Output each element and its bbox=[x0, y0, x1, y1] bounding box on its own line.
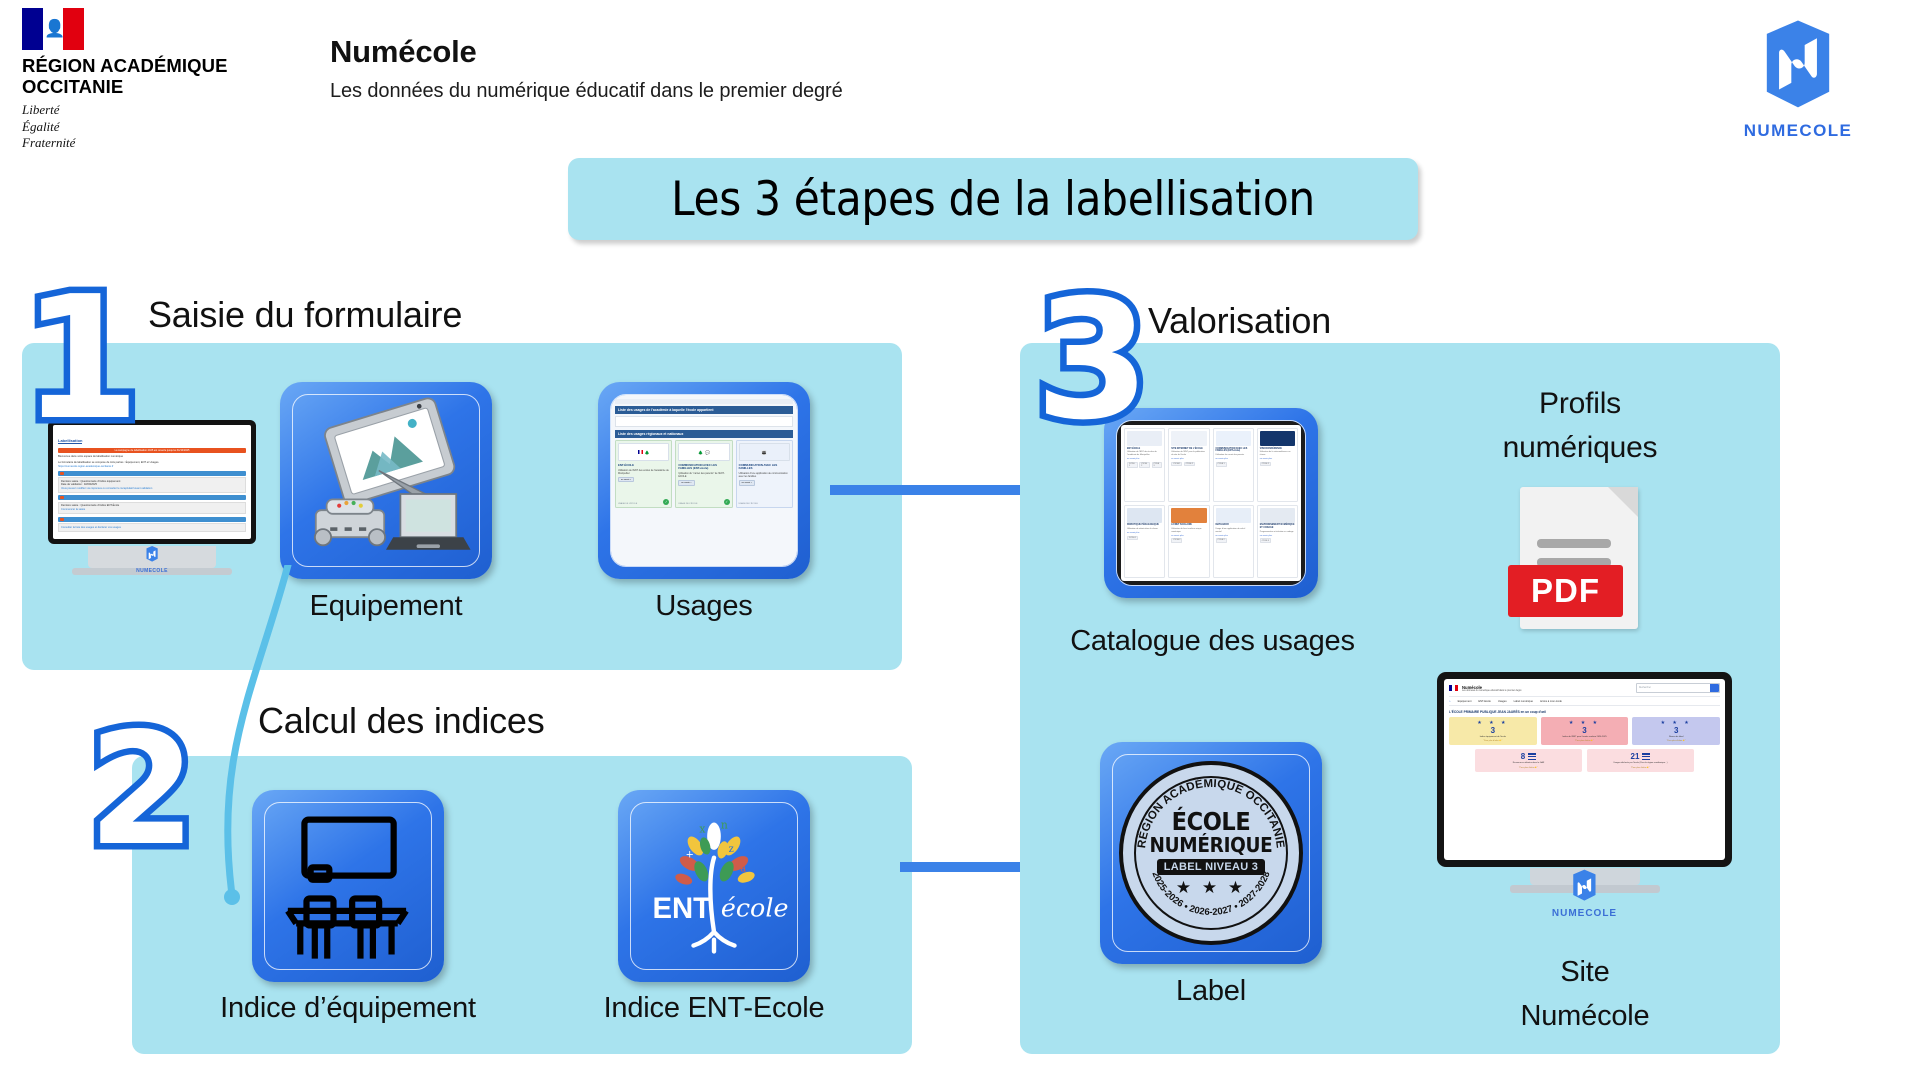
stat-more-link[interactable]: "Pour plus d'infos 👉" bbox=[1543, 740, 1627, 742]
brand-block: Numécole Les données du numérique éducat… bbox=[330, 34, 843, 103]
usage-card-check-icon: ✓ bbox=[663, 499, 669, 505]
form-s1-line3: Vous pouvez modifier vos réponses ou con… bbox=[61, 487, 243, 491]
stat-value-row: 21 bbox=[1589, 752, 1692, 761]
step-3-number: 3 bbox=[1035, 278, 1150, 443]
indice-equipement-label: Indice d’équipement bbox=[172, 992, 524, 1025]
usages-card-label: Usages bbox=[598, 590, 810, 623]
catalogue-card-desc: Utilisation de robots dans la classe bbox=[1127, 528, 1162, 531]
form-section-block-3: Consulter la liste des usages et déclare… bbox=[58, 523, 246, 532]
site-search-input[interactable]: Rechercher bbox=[1636, 683, 1720, 693]
svg-text:+: + bbox=[686, 850, 694, 861]
site-section-heading: L'ÉCOLE PRIMAIRE PUBLIQUE JEAN JAURÈS en… bbox=[1449, 710, 1720, 714]
catalogue-card-desc: Utilisation de la visioconférence en cla… bbox=[1260, 451, 1295, 456]
marianne-icon: 👤 bbox=[44, 17, 64, 41]
usage-card-button[interactable]: en savoir + bbox=[739, 480, 755, 485]
stat-label: Niveau de label bbox=[1634, 736, 1718, 739]
catalogue-card-link[interactable]: en savoir plus bbox=[1127, 458, 1162, 460]
catalogue-card-image bbox=[1171, 431, 1206, 446]
cycle-tag: CYCLE 2 bbox=[1184, 462, 1195, 467]
pdf-badge: PDF bbox=[1508, 565, 1623, 617]
numecole-logo-word: NUMECOLE bbox=[1728, 121, 1868, 141]
catalogue-card-link[interactable]: en savoir plus bbox=[1216, 458, 1251, 460]
svg-text:x: x bbox=[699, 822, 705, 835]
catalogue-card-link[interactable]: en savoir plus bbox=[1171, 535, 1206, 537]
cycle-tag: CYCLE 1 bbox=[1216, 462, 1227, 467]
catalogue-card-tags: CYCLE 1 CYCLE 2 CYCLE 3 bbox=[1127, 462, 1162, 469]
cycle-tag: CYCLE 2 bbox=[1139, 462, 1150, 469]
site-numecole-logo: NUMECOLE bbox=[1552, 868, 1617, 919]
usage-card-foot: USAGE DE L'ÉCOLE bbox=[678, 503, 697, 505]
home-icon[interactable]: ⌂ bbox=[1449, 700, 1451, 703]
header: 👤 RÉGION ACADÉMIQUE OCCITANIE Liberté Ég… bbox=[0, 0, 1920, 150]
pdf-page-shape: PDF bbox=[1520, 487, 1638, 629]
catalogue-card-title: VISIOCONFÉRENCE bbox=[1260, 448, 1295, 451]
brand-title: Numécole bbox=[330, 34, 843, 70]
usage-card-desc: Utilisation d'une application de communi… bbox=[739, 472, 790, 478]
stat-label: Indice équipement de l'école bbox=[1451, 736, 1535, 739]
slide-title-banner: Les 3 étapes de la labellisation bbox=[568, 158, 1418, 240]
svg-text:2025-2026 • 2026-2027 • 2027-2: 2025-2026 • 2026-2027 • 2027-2028 bbox=[1149, 870, 1272, 918]
label-card[interactable]: RÉGION ACADÉMIQUE OCCITANIE 2025-2026 • … bbox=[1100, 742, 1322, 964]
stat-more-link[interactable]: "Pour plus d'infos 👉" bbox=[1451, 740, 1535, 742]
catalogue-card-tags: CYCLE 2 bbox=[1171, 538, 1206, 543]
label-card-label: Label bbox=[1100, 975, 1322, 1008]
tablet-robot-laptop-icon bbox=[293, 395, 479, 566]
laptop-icon bbox=[386, 494, 471, 550]
region-academique-line1: RÉGION ACADÉMIQUE bbox=[22, 56, 272, 77]
indice-equipement-card-inner bbox=[264, 802, 432, 970]
stat-card-indice-equipement[interactable]: ★ ★ ★ 3 Indice équipement de l'école "Po… bbox=[1449, 717, 1537, 746]
usages-card-inner: Liste des usages de l'académie à laquell… bbox=[610, 394, 798, 567]
catalogue-card[interactable]: ENVIRONNEMENT NUMÉRIQUE ET CODAGE Progra… bbox=[1257, 505, 1298, 579]
site-numecole-screen[interactable]: Numécole Les données du numérique éducat… bbox=[1437, 672, 1732, 867]
pdf-fold-corner bbox=[1608, 487, 1638, 517]
numecole-n-icon-small bbox=[1564, 868, 1604, 903]
catalogue-card-title: ROBOTIQUE PÉDAGOGIQUE bbox=[1127, 524, 1162, 527]
catalogue-card-image bbox=[1216, 508, 1251, 523]
usages-screenshot: Liste des usages de l'académie à laquell… bbox=[611, 395, 797, 566]
step-2-number: 2 bbox=[88, 712, 196, 867]
pdf-text-line bbox=[1537, 539, 1611, 548]
catalogue-card-image bbox=[1260, 508, 1295, 523]
catalogue-card-image bbox=[1127, 508, 1162, 523]
usage-card[interactable]: 🌲 ENT-ÉCOLE Utilisation de l'ENT des éco… bbox=[615, 440, 672, 508]
cycle-tag: CYCLE 1 bbox=[1127, 536, 1138, 541]
catalogue-card-tags: CYCLE 2 bbox=[1216, 538, 1251, 543]
stat-more-link[interactable]: "Pour plus d'infos 👉" bbox=[1634, 740, 1718, 742]
stat-value: 8 bbox=[1521, 752, 1525, 761]
catalogue-card[interactable]: SITE INTERNET DE L'ÉCOLE Utilisation de … bbox=[1168, 428, 1209, 502]
indice-ent-ecole-card-inner: x n z a + ENT école bbox=[630, 802, 798, 970]
form-section-bar-2[interactable] bbox=[58, 495, 246, 500]
usage-card-button[interactable]: en savoir + bbox=[618, 477, 634, 482]
cycle-tag: CYCLE 2 bbox=[1260, 462, 1271, 467]
brand-subtitle: Les données du numérique éducatif dans l… bbox=[330, 80, 843, 103]
catalogue-card[interactable]: ROBOTIQUE PÉDAGOGIQUE Utilisation de rob… bbox=[1124, 505, 1165, 579]
site-stat-cards: ★ ★ ★ 3 Indice équipement de l'école "Po… bbox=[1449, 717, 1720, 746]
site-numecole-label: Site Numécole bbox=[1470, 950, 1700, 1038]
pdf-file-icon[interactable]: PDF bbox=[1520, 487, 1638, 629]
usages-card-row: 🌲 ENT-ÉCOLE Utilisation de l'ENT des éco… bbox=[615, 440, 793, 508]
step-1-number: 1 bbox=[22, 274, 140, 444]
profils-numeriques-label: Profils numériques bbox=[1460, 382, 1700, 470]
svg-text:n: n bbox=[721, 818, 728, 831]
slide-root: 👤 RÉGION ACADÉMIQUE OCCITANIE Liberté Ég… bbox=[0, 0, 1920, 1080]
usages-card[interactable]: Liste des usages de l'académie à laquell… bbox=[598, 382, 810, 579]
stat-card-usages-declares[interactable]: 21 Usages déclarés par l'école (Pour la … bbox=[1587, 749, 1694, 772]
catalogue-card-desc: Programmation et initiation au codage bbox=[1260, 531, 1295, 534]
ent-word: ENT bbox=[652, 892, 711, 925]
catalogue-card-desc: Utilisation du carnet des parents bbox=[1216, 454, 1251, 457]
stat-card-indice-ent[interactable]: ★ ★ ★ 3 Indice de l'ENT pour l'année sco… bbox=[1541, 717, 1629, 746]
catalogue-card-desc: Utilisation de l'ENT pour la publication… bbox=[1171, 451, 1206, 456]
ecole-word: école bbox=[721, 892, 789, 922]
equipement-card-label: Equipement bbox=[280, 590, 492, 623]
usage-card-title: COMMUNICATION AVEC LES FAMILLES bbox=[739, 464, 790, 471]
form-section-block-1: Dernière saisie : Questionnaire d'indice… bbox=[58, 477, 246, 493]
catalogue-card-image bbox=[1260, 431, 1295, 446]
site-stat-cards-secondary: 8 Ressources utilisées dans le GAR "Pour… bbox=[1449, 749, 1720, 772]
catalogue-card[interactable]: VISIOCONFÉRENCE Utilisation de la visioc… bbox=[1257, 428, 1298, 502]
cycle-tag: CYCLE 1 bbox=[1127, 462, 1138, 469]
usage-card-foot: USAGE DE L'ÉCOLE bbox=[739, 503, 758, 505]
step-3-title: Valorisation bbox=[1148, 300, 1331, 342]
seal-arc-text: RÉGION ACADÉMIQUE OCCITANIE 2025-2026 • … bbox=[1123, 765, 1299, 941]
indice-ent-ecole-card[interactable]: x n z a + ENT école bbox=[618, 790, 810, 982]
nav-item-ent-ecole[interactable]: ENT-Ecole bbox=[1478, 700, 1490, 703]
usages-bar-2: Liste des usages régionaux et nationaux bbox=[615, 430, 793, 438]
numecole-n-icon-small bbox=[142, 545, 162, 563]
svg-text:a: a bbox=[740, 863, 746, 874]
stat-value: 3 bbox=[1543, 726, 1627, 735]
form-s3-line1: Consulter la liste des usages et déclare… bbox=[61, 526, 243, 530]
usages-bar-1: Liste des usages de l'académie à laquell… bbox=[615, 406, 793, 414]
svg-text:RÉGION ACADÉMIQUE OCCITANIE: RÉGION ACADÉMIQUE OCCITANIE bbox=[1136, 777, 1286, 849]
devise-egalite: Égalité bbox=[22, 119, 272, 136]
usage-card[interactable]: 🌲 💬 COMMUNICATION AVEC LES FAMILLES (ENT… bbox=[675, 440, 732, 508]
catalogue-card-tags: CYCLE 2 bbox=[1260, 462, 1295, 467]
stat-value-row: 8 bbox=[1477, 752, 1580, 761]
stat-value: 3 bbox=[1634, 726, 1718, 735]
site-search-placeholder: Rechercher bbox=[1639, 687, 1651, 689]
monitor-numecole-logo: NUMECOLE bbox=[136, 545, 168, 574]
form-link: https://numecole.region-academique-occit… bbox=[58, 465, 246, 469]
form-section-block-2: Dernière saisie : Questionnaire d'indice… bbox=[58, 502, 246, 514]
usage-card-button[interactable]: en savoir + bbox=[678, 480, 694, 485]
catalogue-card-title: SITE INTERNET DE L'ÉCOLE bbox=[1171, 448, 1206, 451]
site-topbar: Numécole Les données du numérique éducat… bbox=[1449, 683, 1720, 693]
monitor-logo-word: NUMECOLE bbox=[136, 568, 168, 574]
equipement-card[interactable] bbox=[280, 382, 492, 579]
ent-ecole-tree-logo: x n z a + ENT école bbox=[631, 803, 797, 969]
profils-line-1: Profils bbox=[1460, 382, 1700, 426]
catalogue-card-tags: CYCLE 1 bbox=[1216, 462, 1251, 467]
usage-card-title: ENT-ÉCOLE bbox=[618, 464, 669, 467]
label-card-inner: RÉGION ACADÉMIQUE OCCITANIE 2025-2026 • … bbox=[1112, 754, 1310, 952]
cycle-tag: CYCLE 3 bbox=[1260, 538, 1271, 543]
equipement-card-inner bbox=[292, 394, 480, 567]
catalogue-card-image bbox=[1216, 431, 1251, 446]
catalogue-card-link[interactable]: en savoir plus bbox=[1216, 535, 1251, 537]
stat-more-link[interactable]: "Pour plus d'infos 👉" bbox=[1589, 767, 1692, 769]
usages-empty-row bbox=[615, 416, 793, 427]
step-2-title: Calcul des indices bbox=[258, 700, 545, 742]
stat-label: Usages déclarés par l'école (Pour la rég… bbox=[1589, 762, 1692, 765]
usage-card[interactable]: 👪 COMMUNICATION AVEC LES FAMILLES Utilis… bbox=[736, 440, 793, 508]
site-nav: ⌂ Equipement ENT-Ecole Usages Label numé… bbox=[1449, 696, 1720, 706]
usage-card-check-icon: ✓ bbox=[724, 499, 730, 505]
site-screen-bezel: Numécole Les données du numérique éducat… bbox=[1437, 672, 1732, 867]
catalogue-card-desc: Utilisation du livret scolaire unique nu… bbox=[1171, 528, 1206, 533]
catalogue-card-tags: CYCLE 3 bbox=[1260, 538, 1295, 543]
ecole-numerique-seal: RÉGION ACADÉMIQUE OCCITANIE 2025-2026 • … bbox=[1119, 761, 1303, 945]
list-icon bbox=[1642, 753, 1650, 760]
stat-value: 21 bbox=[1631, 752, 1640, 761]
svg-text:z: z bbox=[729, 844, 734, 855]
catalogue-card-title: COMMUNICATION AVEC LES FAMILLES (ENT-éco… bbox=[1216, 448, 1251, 454]
search-icon[interactable] bbox=[1710, 684, 1719, 692]
numecole-logo: NUMECOLE bbox=[1728, 16, 1868, 141]
indice-equipement-card[interactable] bbox=[252, 790, 444, 982]
classroom-desks-icon bbox=[265, 803, 431, 969]
usage-card-foot: USAGE DE L'ÉCOLE bbox=[618, 503, 637, 505]
nav-item-acces-ecole[interactable]: Accès à mon école bbox=[1540, 700, 1562, 703]
nav-item-usages[interactable]: Usages bbox=[1498, 700, 1507, 703]
stat-more-link[interactable]: "Pour plus d'infos 👉" bbox=[1477, 767, 1580, 769]
numecole-n-icon bbox=[1742, 16, 1854, 114]
cycle-tag: CYCLE 1 bbox=[1171, 462, 1182, 467]
slide-title-text: Les 3 étapes de la labellisation bbox=[671, 172, 1315, 227]
usage-card-desc: Utilisation du "carnet des parents" de l… bbox=[678, 472, 729, 478]
indice-ent-ecole-label: Indice ENT-Ecole bbox=[548, 992, 880, 1025]
site-logo-word: NUMECOLE bbox=[1552, 908, 1617, 919]
devise-fraternite: Fraternité bbox=[22, 135, 272, 152]
cycle-tag: CYCLE 3 bbox=[1152, 462, 1163, 469]
site-flag-icon bbox=[1449, 685, 1458, 691]
form-section-bar-1[interactable] bbox=[58, 471, 246, 476]
robot-icon bbox=[315, 499, 385, 545]
nav-item-label-numerique[interactable]: Label numérique bbox=[1514, 700, 1533, 703]
site-tagline: Les données du numérique éducatif dans l… bbox=[1462, 690, 1522, 692]
site-label-line-2: Numécole bbox=[1470, 994, 1700, 1038]
form-s2-line2: Commencer la saisie bbox=[61, 508, 243, 512]
form-section-bar-3[interactable] bbox=[58, 517, 246, 522]
stat-value: 3 bbox=[1451, 726, 1535, 735]
catalogue-card-title: LIVRET SCOLAIRE bbox=[1171, 524, 1206, 527]
usage-thumb: 🌲 bbox=[618, 443, 669, 461]
catalogue-card-title: MATHADOR bbox=[1216, 524, 1251, 527]
cycle-tag: CYCLE 2 bbox=[1216, 538, 1227, 543]
site-label-line-1: Site bbox=[1470, 950, 1700, 994]
site-screenshot: Numécole Les données du numérique éducat… bbox=[1444, 679, 1725, 860]
republique-francaise-block: 👤 RÉGION ACADÉMIQUE OCCITANIE Liberté Ég… bbox=[22, 8, 272, 152]
usage-card-desc: Utilisation de l'ENT des écoles de l'aca… bbox=[618, 469, 669, 475]
catalogue-card[interactable]: COMMUNICATION AVEC LES FAMILLES (ENT-éco… bbox=[1213, 428, 1254, 502]
usage-thumb: 👪 bbox=[739, 443, 790, 461]
catalogue-card-image bbox=[1171, 508, 1206, 523]
catalogue-card[interactable]: MATHADOR Usage d'une application de calc… bbox=[1213, 505, 1254, 579]
french-flag-icon: 👤 bbox=[22, 8, 84, 50]
usage-card-title: COMMUNICATION AVEC LES FAMILLES (ENT-éco… bbox=[678, 464, 729, 471]
catalogue-card-link[interactable]: en savoir plus bbox=[1260, 535, 1295, 537]
catalogue-usages-label: Catalogue des usages bbox=[1040, 625, 1385, 658]
step-1-title: Saisie du formulaire bbox=[148, 294, 462, 336]
catalogue-card-desc: Usage d'une application de calcul mental bbox=[1216, 528, 1251, 533]
catalogue-card-link[interactable]: en savoir plus bbox=[1127, 532, 1162, 534]
cycle-tag: CYCLE 2 bbox=[1171, 538, 1182, 543]
devise-block: Liberté Égalité Fraternité bbox=[22, 102, 272, 152]
stat-label: Ressources utilisées dans le GAR bbox=[1477, 762, 1580, 765]
devise-liberte: Liberté bbox=[22, 102, 272, 119]
catalogue-card-title: ENVIRONNEMENT NUMÉRIQUE ET CODAGE bbox=[1260, 524, 1295, 530]
stat-label: Indice de l'ENT pour l'année scolaire 20… bbox=[1543, 736, 1627, 739]
profils-line-2: numériques bbox=[1460, 426, 1700, 470]
stat-card-ressources-gar[interactable]: 8 Ressources utilisées dans le GAR "Pour… bbox=[1475, 749, 1582, 772]
list-icon bbox=[1528, 753, 1536, 760]
usage-thumb: 🌲 💬 bbox=[678, 443, 729, 461]
catalogue-card-tags: CYCLE 1 bbox=[1127, 536, 1162, 541]
catalogue-card-link[interactable]: en savoir plus bbox=[1171, 458, 1206, 460]
nav-item-equipement[interactable]: Equipement bbox=[1458, 700, 1472, 703]
catalogue-card-tags: CYCLE 1 CYCLE 2 bbox=[1171, 462, 1206, 467]
catalogue-card[interactable]: LIVRET SCOLAIRE Utilisation du livret sc… bbox=[1168, 505, 1209, 579]
catalogue-card-link[interactable]: en savoir plus bbox=[1260, 458, 1295, 460]
stat-card-niveau-label[interactable]: ★ ★ ★ 3 Niveau de label "Pour plus d'inf… bbox=[1632, 717, 1720, 746]
region-academique-line2: OCCITANIE bbox=[22, 77, 272, 98]
